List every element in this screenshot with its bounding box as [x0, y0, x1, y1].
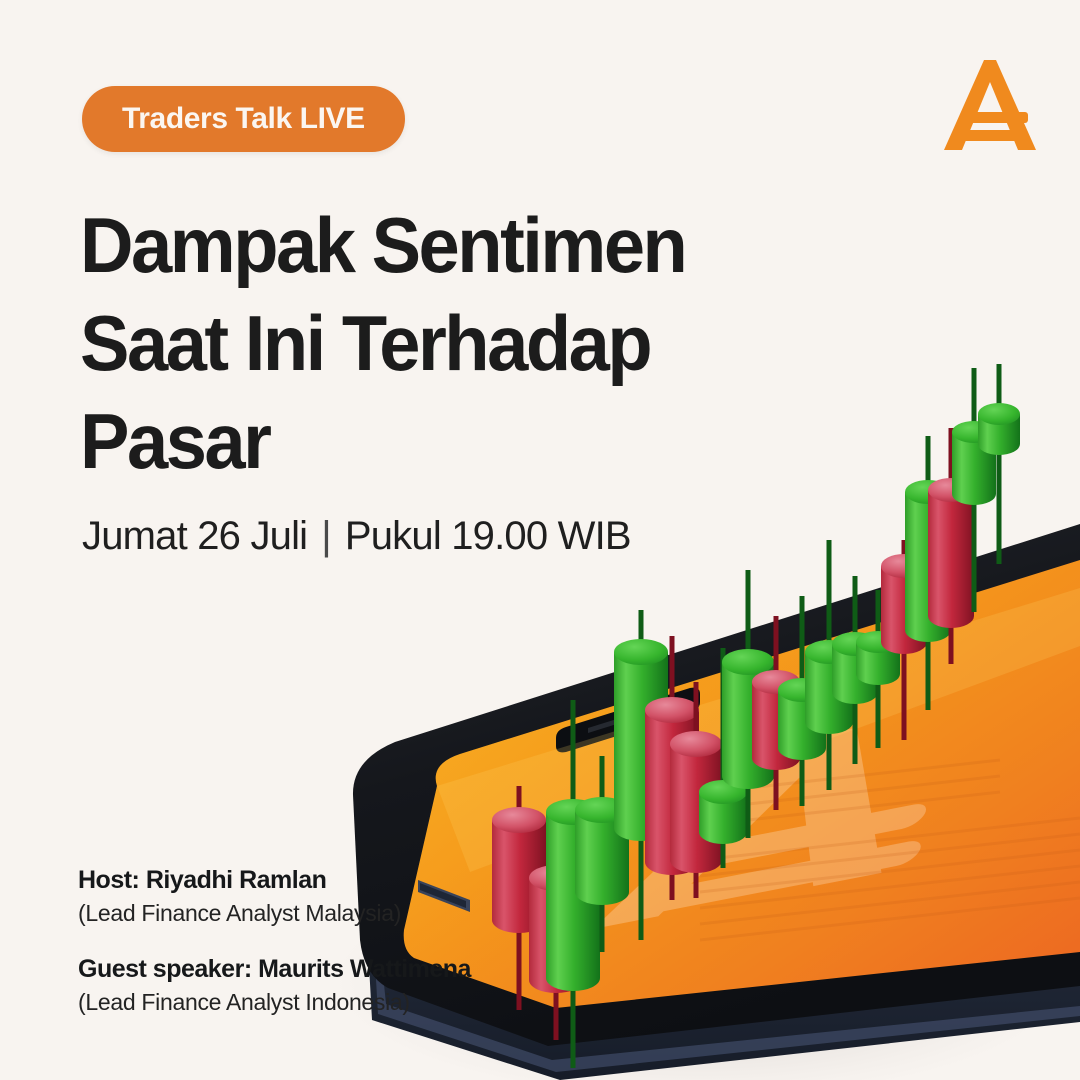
- event-datetime: Jumat 26 Juli | Pukul 19.00 WIB: [82, 514, 631, 559]
- guest-entry: Guest speaker: Maurits Wattimena (Lead F…: [78, 955, 471, 1016]
- headline-line-2: Saat Ini Terhadap: [80, 294, 783, 392]
- host-role: (Lead Finance Analyst Malaysia): [78, 900, 471, 927]
- poster-canvas: Traders Talk LIVE Dampak Sentimen Saat I…: [0, 0, 1080, 1080]
- live-badge-label: Traders Talk LIVE: [122, 102, 365, 136]
- headline-line-1: Dampak Sentimen: [80, 196, 783, 294]
- brand-a-logo-icon: [938, 52, 1042, 156]
- page-title: Dampak Sentimen Saat Ini Terhadap Pasar: [80, 196, 820, 490]
- event-date: Jumat 26 Juli: [82, 514, 307, 559]
- live-badge[interactable]: Traders Talk LIVE: [82, 86, 405, 152]
- host-name: Host: Riyadhi Ramlan: [78, 866, 471, 895]
- event-time: Pukul 19.00 WIB: [345, 514, 631, 559]
- datetime-separator: |: [321, 514, 331, 559]
- guest-name: Guest speaker: Maurits Wattimena: [78, 955, 471, 984]
- host-entry: Host: Riyadhi Ramlan (Lead Finance Analy…: [78, 866, 471, 927]
- headline-line-3: Pasar: [80, 392, 783, 490]
- speaker-list: Host: Riyadhi Ramlan (Lead Finance Analy…: [78, 866, 471, 1016]
- guest-role: (Lead Finance Analyst Indonesia): [78, 989, 471, 1016]
